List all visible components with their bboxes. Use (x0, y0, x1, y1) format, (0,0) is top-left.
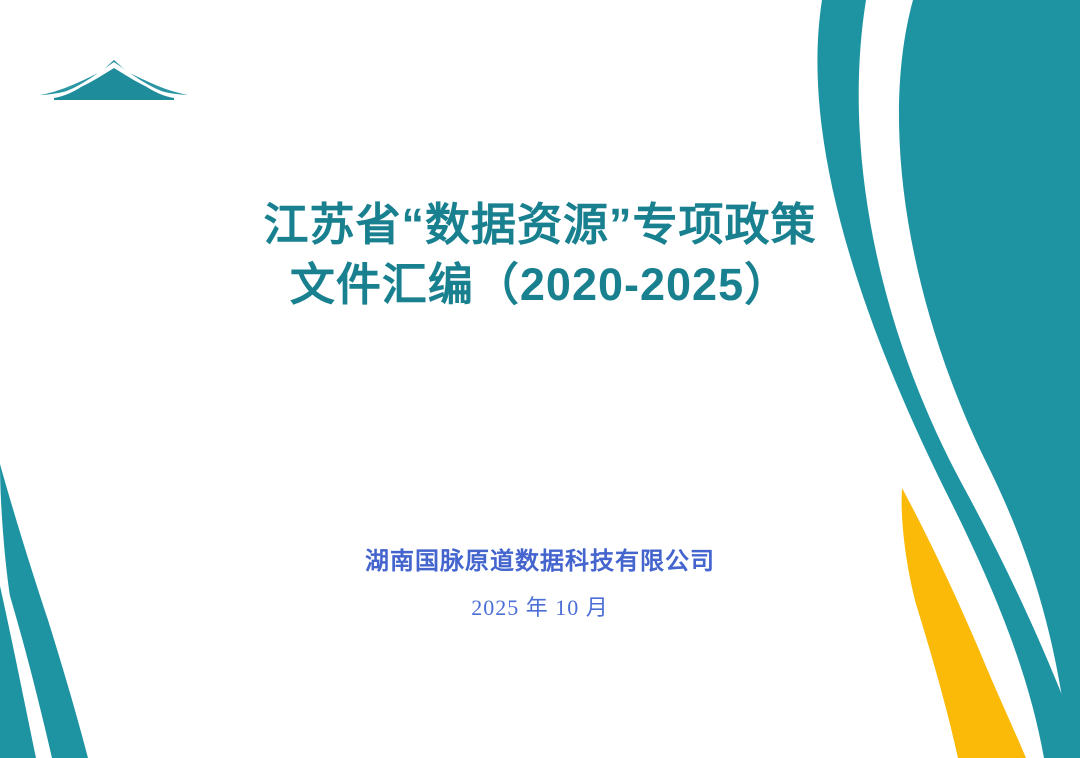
teal-curve-band-right (817, 0, 1080, 758)
cover-footer: 湖南国脉原道数据科技有限公司 2025 年 10 月 (0, 545, 1080, 623)
title-line-secondary: 文件汇编（2020-2025） (0, 256, 1080, 314)
page-title: 江苏省“数据资源”专项政策 文件汇编（2020-2025） (0, 196, 1080, 314)
cover-slide: 江苏省“数据资源”专项政策 文件汇编（2020-2025） 湖南国脉原道数据科技… (0, 0, 1080, 758)
teal-curve-fill-right (899, 0, 1080, 758)
decorative-background (0, 0, 1080, 758)
yellow-curve-accent (902, 488, 1026, 758)
document-date: 2025 年 10 月 (0, 593, 1080, 623)
mountain-wave-logo (38, 50, 190, 102)
company-name: 湖南国脉原道数据科技有限公司 (0, 545, 1080, 579)
title-line-primary: 江苏省“数据资源”专项政策 (0, 196, 1080, 254)
